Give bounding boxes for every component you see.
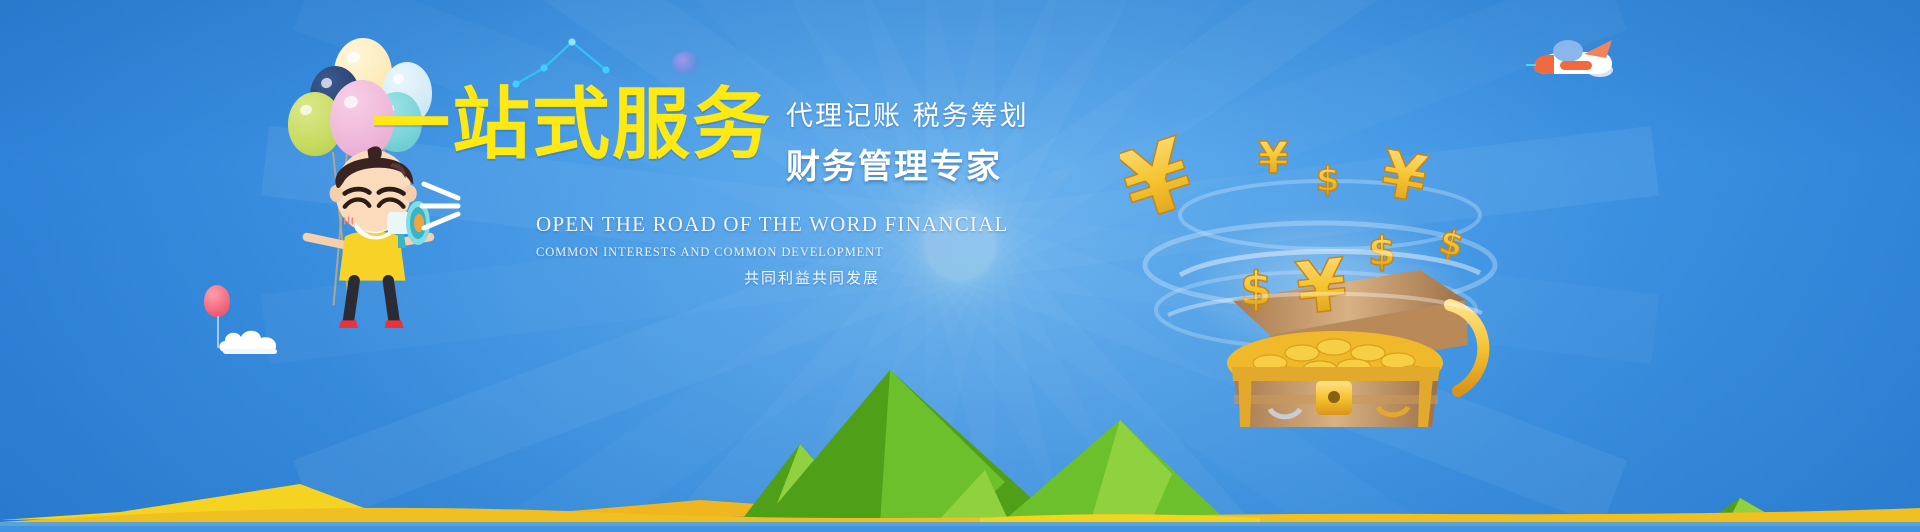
ground-landscape [0,362,1920,532]
subtitle-english-secondary: COMMON INTERESTS AND COMMON DEVELOPMENT [536,245,880,260]
headline-tagline: 财务管理专家 [786,139,1029,188]
currency-symbol-yen: ¥ [1120,117,1206,244]
currency-symbol-yen: ¥ [1375,137,1432,218]
cloud-icon [215,322,285,358]
currency-symbol-yen: ¥ [1258,133,1289,184]
subtitle-block: OPEN THE ROAD OF THE WORD FINANCIAL COMM… [536,212,880,288]
subtitle-english-primary: OPEN THE ROAD OF THE WORD FINANCIAL [536,212,880,237]
currency-symbol-dollar: $ [1316,160,1340,200]
currency-symbol-dollar: $ [1240,262,1272,316]
subtitle-chinese: 共同利益共同发展 [536,267,880,288]
small-pink-balloon [204,285,230,317]
headline-main: 一站式服务 [372,86,772,164]
currency-symbol-yen: ¥ [1292,242,1351,331]
airplane-icon [1524,34,1620,90]
headline-services: 代理记账 税务筹划 [786,94,1029,133]
headline-block: 一站式服务 代理记账 税务筹划 财务管理专家 [372,86,1029,188]
promo-banner: 一站式服务 代理记账 税务筹划 财务管理专家 OPEN THE ROAD OF … [0,0,1920,532]
purple-glow-blob [672,52,698,74]
